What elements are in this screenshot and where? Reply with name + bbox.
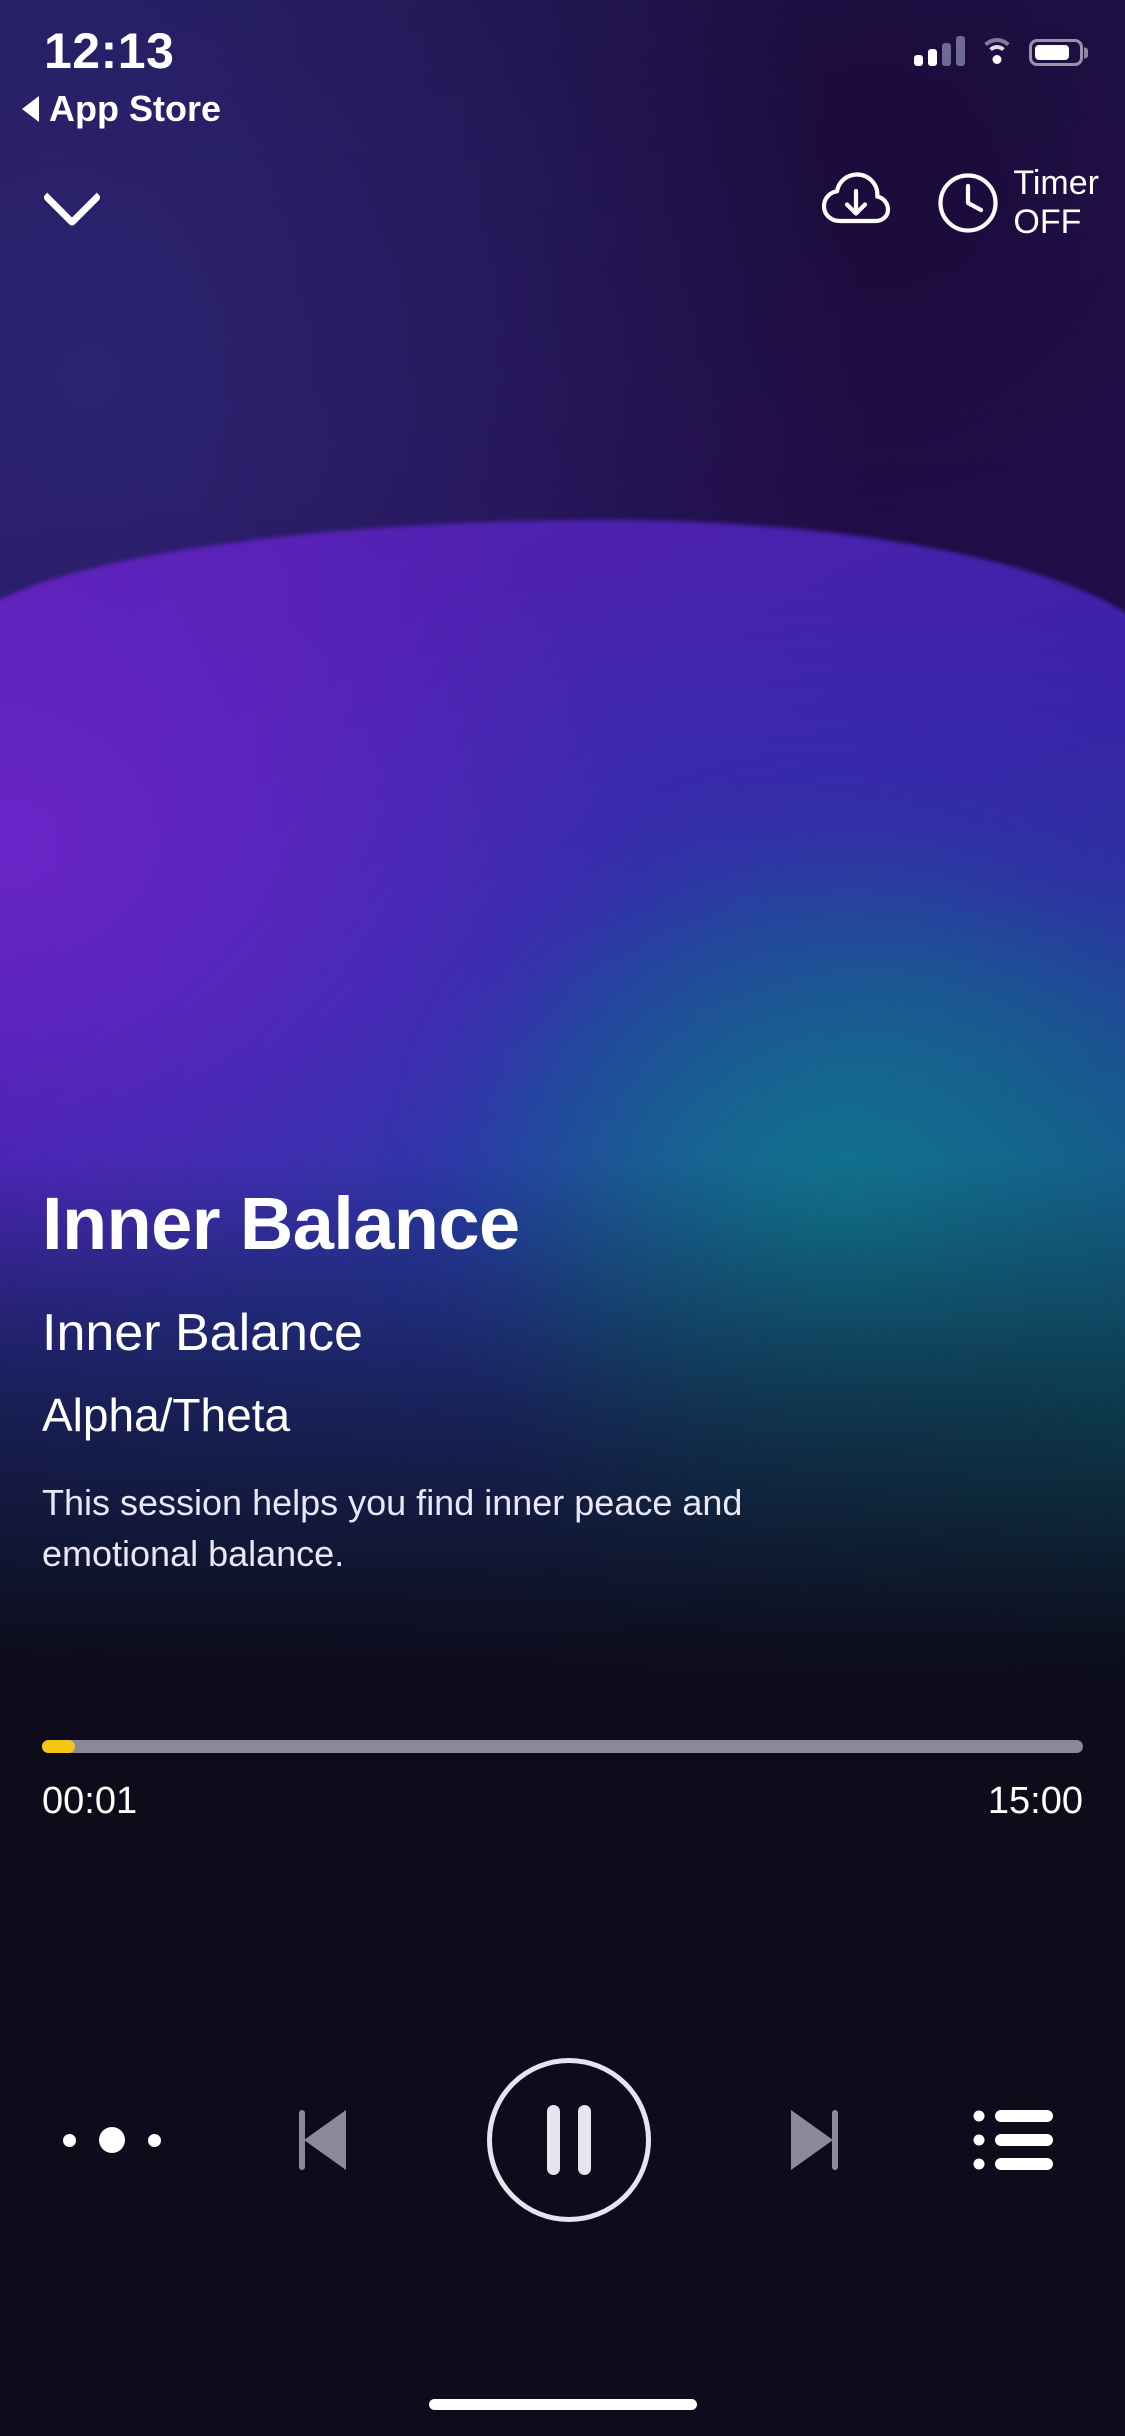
back-triangle-icon <box>22 96 39 122</box>
home-indicator <box>429 2399 697 2410</box>
status-bar-time: 12:13 <box>44 22 174 80</box>
next-track-button[interactable] <box>763 2092 859 2188</box>
track-info: Inner Balance Inner Balance Alpha/Theta … <box>42 1185 1002 1579</box>
progress-slider[interactable] <box>42 1740 1083 1753</box>
duration-time: 15:00 <box>988 1780 1083 1823</box>
playlist-queue-icon <box>971 2100 1067 2180</box>
download-button[interactable] <box>821 169 891 236</box>
status-bar-indicators <box>914 36 1083 66</box>
back-label: App Store <box>49 88 221 130</box>
now-playing-screen: 12:13 App Store <box>0 0 1125 2436</box>
toolbar-actions: Timer OFF <box>821 164 1099 242</box>
play-pause-button[interactable] <box>487 2058 651 2222</box>
skip-next-icon <box>763 2092 859 2188</box>
playback-controls <box>0 2040 1125 2240</box>
timer-value: OFF <box>1013 203 1099 242</box>
track-title: Inner Balance <box>42 1185 1002 1263</box>
timer-text: Timer OFF <box>1013 164 1099 242</box>
sleep-timer-button[interactable]: Timer OFF <box>937 164 1099 242</box>
player-toolbar: Timer OFF <box>0 168 1125 252</box>
wifi-icon <box>979 38 1015 66</box>
back-to-app-store-link[interactable]: App Store <box>22 88 221 130</box>
playback-progress: 00:01 15:00 <box>42 1740 1083 1823</box>
track-description: This session helps you find inner peace … <box>42 1477 842 1579</box>
track-frequency-band: Alpha/Theta <box>42 1391 1002 1441</box>
skip-previous-icon <box>278 2092 374 2188</box>
cloud-download-icon <box>821 169 891 231</box>
clock-icon <box>937 172 999 234</box>
pause-icon <box>547 2105 560 2175</box>
chevron-down-icon <box>42 168 101 227</box>
progress-times: 00:01 15:00 <box>42 1780 1083 1823</box>
previous-track-button[interactable] <box>278 2092 374 2188</box>
three-dots-mix-icon <box>63 2134 76 2147</box>
elapsed-time: 00:01 <box>42 1780 137 1823</box>
collapse-player-button[interactable] <box>26 168 118 244</box>
status-bar: 12:13 App Store <box>0 0 1125 132</box>
queue-button[interactable] <box>971 2100 1067 2180</box>
timer-label: Timer <box>1013 164 1099 203</box>
progress-fill <box>42 1740 75 1753</box>
track-subtitle: Inner Balance <box>42 1305 1002 1361</box>
mix-levels-button[interactable] <box>58 2100 166 2180</box>
cellular-signal-icon <box>914 36 965 66</box>
battery-icon <box>1029 39 1083 66</box>
